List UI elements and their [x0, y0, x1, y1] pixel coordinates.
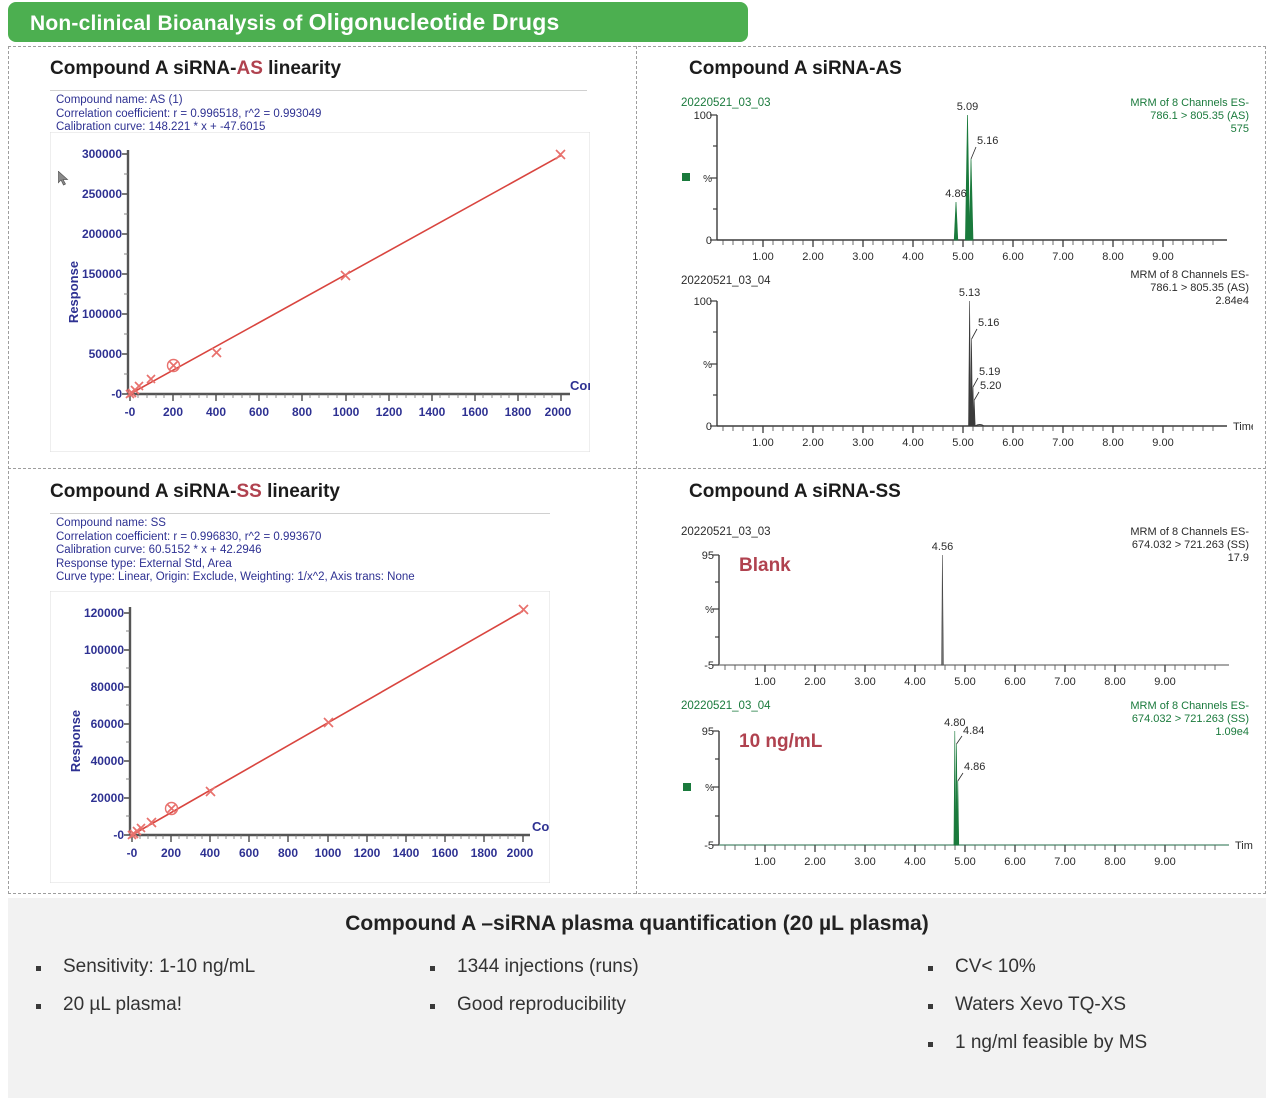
- svg-text:50000: 50000: [89, 347, 123, 361]
- svg-text:-5: -5: [704, 660, 714, 672]
- svg-text:-0: -0: [127, 846, 138, 860]
- svg-text:8.00: 8.00: [1102, 437, 1123, 449]
- svg-text:-5: -5: [704, 840, 714, 852]
- svg-text:%: %: [705, 783, 714, 794]
- svg-text:4.00: 4.00: [904, 856, 925, 868]
- as-bottom-sample-label: 20220521_03_04: [681, 275, 771, 287]
- svg-text:100: 100: [694, 110, 712, 122]
- svg-text:2.00: 2.00: [804, 676, 825, 688]
- panel-title-as-linearity: Compound A siRNA-AS linearity: [50, 58, 341, 80]
- list-item: Sensitivity: 1-10 ng/mL: [36, 956, 255, 978]
- svg-text:800: 800: [292, 405, 312, 419]
- as-top-sample-label: 20220521_03_03: [681, 97, 771, 109]
- svg-text:20000: 20000: [91, 791, 125, 805]
- svg-text:2.00: 2.00: [802, 437, 823, 449]
- svg-text:Conc: Conc: [532, 819, 550, 834]
- svg-text:MRM of 8 Channels ES-: MRM of 8 Channels ES-: [1130, 700, 1249, 712]
- svg-text:3.00: 3.00: [854, 676, 875, 688]
- report-top-rule: [50, 513, 550, 514]
- svg-text:5.00: 5.00: [954, 676, 975, 688]
- bullet-square-icon: [430, 966, 435, 971]
- svg-text:2.00: 2.00: [804, 856, 825, 868]
- svg-text:9.00: 9.00: [1152, 437, 1173, 449]
- svg-text:1.00: 1.00: [752, 251, 773, 263]
- svg-text:Conc: Conc: [570, 378, 590, 393]
- svg-text:%: %: [703, 360, 712, 371]
- svg-text:600: 600: [249, 405, 269, 419]
- bullet-square-icon: [928, 1042, 933, 1047]
- svg-text:1200: 1200: [376, 405, 403, 419]
- title-suffix: linearity: [262, 481, 340, 502]
- report-line-compound-name: Compound name: SS: [56, 517, 415, 531]
- svg-text:5.13: 5.13: [959, 287, 980, 299]
- ss-10ng-sample-label: 20220521_03_04: [681, 700, 771, 712]
- svg-text:674.032 > 721.263 (SS): 674.032 > 721.263 (SS): [1132, 539, 1249, 551]
- svg-text:300000: 300000: [82, 147, 122, 161]
- report-line-calibration-curve: Calibration curve: 60.5152 * x + 42.2946: [56, 544, 415, 558]
- ss-chromatogram-pair: 20220521_03_03 MRM of 8 Channels ES- 674…: [657, 517, 1253, 877]
- svg-text:4.86: 4.86: [945, 188, 966, 200]
- svg-text:Response: Response: [68, 710, 83, 772]
- svg-text:400: 400: [200, 846, 220, 860]
- svg-text:575: 575: [1231, 123, 1249, 135]
- bullet-square-icon: [36, 1004, 41, 1009]
- svg-text:1.09e4: 1.09e4: [1215, 726, 1249, 738]
- svg-text:2.00: 2.00: [802, 251, 823, 263]
- svg-text:6.00: 6.00: [1002, 437, 1023, 449]
- svg-text:9.00: 9.00: [1154, 676, 1175, 688]
- list-item: Waters Xevo TQ-XS: [928, 994, 1147, 1016]
- svg-text:-0: -0: [125, 405, 136, 419]
- title-suffix: linearity: [263, 58, 341, 79]
- svg-text:4.00: 4.00: [902, 437, 923, 449]
- svg-text:100000: 100000: [82, 307, 122, 321]
- bullet-square-icon: [430, 1004, 435, 1009]
- svg-text:1600: 1600: [462, 405, 489, 419]
- panel-title-as-chrom: Compound A siRNA-AS: [689, 58, 902, 80]
- panel-ss-linearity: Compound A siRNA-SS linearity Compound n…: [8, 469, 636, 894]
- svg-text:5.16: 5.16: [978, 317, 999, 329]
- bullet-square-icon: [928, 966, 933, 971]
- svg-text:200: 200: [161, 846, 181, 860]
- svg-text:MRM of 8 Channels ES-: MRM of 8 Channels ES-: [1130, 526, 1249, 538]
- svg-text:1200: 1200: [354, 846, 381, 860]
- report-line-correlation: Correlation coefficient: r = 0.996830, r…: [56, 531, 415, 545]
- svg-text:1000: 1000: [333, 405, 360, 419]
- svg-text:9.00: 9.00: [1152, 251, 1173, 263]
- svg-text:800: 800: [278, 846, 298, 860]
- mouse-cursor-icon: [58, 171, 69, 186]
- svg-text:-0: -0: [113, 828, 124, 842]
- svg-text:1000: 1000: [315, 846, 342, 860]
- svg-text:5.20: 5.20: [980, 380, 1001, 392]
- as-top-legend-square: [682, 173, 690, 181]
- list-item: 20 µL plasma!: [36, 994, 255, 1016]
- svg-text:786.1 > 805.35 (AS): 786.1 > 805.35 (AS): [1150, 282, 1249, 294]
- bullet-column-3: CV< 10% Waters Xevo TQ-XS 1 ng/ml feasib…: [928, 956, 1147, 1070]
- ss-blank-sample-label: 20220521_03_03: [681, 526, 771, 538]
- svg-text:MRM of 8 Channels ES-: MRM of 8 Channels ES-: [1130, 269, 1249, 281]
- bullet-text: CV< 10%: [955, 956, 1036, 978]
- svg-text:4.56: 4.56: [932, 541, 953, 553]
- svg-text:1.00: 1.00: [754, 676, 775, 688]
- svg-text:150000: 150000: [82, 267, 122, 281]
- bullet-column-1: Sensitivity: 1-10 ng/mL 20 µL plasma!: [36, 956, 255, 1032]
- panel-title-ss-linearity: Compound A siRNA-SS linearity: [50, 481, 340, 503]
- svg-text:1800: 1800: [471, 846, 498, 860]
- svg-text:7.00: 7.00: [1052, 251, 1073, 263]
- svg-text:200: 200: [163, 405, 183, 419]
- report-line-compound-name: Compound name: AS (1): [56, 94, 415, 108]
- svg-text:200000: 200000: [82, 227, 122, 241]
- svg-text:1.00: 1.00: [754, 856, 775, 868]
- bullet-text: Waters Xevo TQ-XS: [955, 994, 1126, 1016]
- ss-blank-annotation: Blank: [739, 555, 791, 576]
- report-top-rule: [50, 90, 587, 91]
- svg-text:4.84: 4.84: [963, 725, 984, 737]
- svg-text:5.16: 5.16: [977, 135, 998, 147]
- title-accent: SS: [236, 481, 261, 502]
- slide-title-banner: Non-clinical Bioanalysis of Oligonucleot…: [8, 2, 748, 42]
- ss-linearity-plot: -0 20000 40000 60000 80000 100000 120000: [50, 591, 550, 883]
- panel-as-linearity: Compound A siRNA-AS linearity Compound n…: [8, 46, 636, 468]
- svg-text:3.00: 3.00: [852, 251, 873, 263]
- panel-as-chromatograms: Compound A siRNA-AS 20220521_03_03 MRM o…: [637, 46, 1266, 468]
- ss-10ng-annotation: 10 ng/mL: [739, 731, 823, 752]
- as-chromatogram-pair: 20220521_03_03 MRM of 8 Channels ES- 786…: [657, 88, 1253, 458]
- list-item: 1344 injections (runs): [430, 956, 639, 978]
- bullet-text: Good reproducibility: [457, 994, 626, 1016]
- title-prefix: Compound A siRNA-: [50, 481, 236, 502]
- svg-text:5.00: 5.00: [954, 856, 975, 868]
- svg-text:6.00: 6.00: [1004, 856, 1025, 868]
- slide-title-bold: Oligonucleotide Drugs: [309, 9, 560, 35]
- svg-text:2.84e4: 2.84e4: [1215, 295, 1249, 307]
- svg-text:Response: Response: [66, 261, 81, 323]
- svg-text:9.00: 9.00: [1154, 856, 1175, 868]
- svg-text:100: 100: [694, 296, 712, 308]
- bullet-square-icon: [928, 1004, 933, 1009]
- svg-text:60000: 60000: [91, 717, 125, 731]
- svg-text:0: 0: [706, 235, 712, 247]
- svg-text:Time: Time: [1235, 840, 1253, 852]
- svg-text:1800: 1800: [505, 405, 532, 419]
- svg-text:17.9: 17.9: [1228, 552, 1249, 564]
- svg-text:674.032 > 721.263 (SS): 674.032 > 721.263 (SS): [1132, 713, 1249, 725]
- as-linearity-plot: -0 50000 100000 150000 200000 250000 300…: [50, 132, 590, 452]
- panel-ss-chromatograms: Compound A siRNA-SS 20220521_03_03 MRM o…: [637, 469, 1266, 894]
- svg-text:7.00: 7.00: [1054, 676, 1075, 688]
- svg-text:80000: 80000: [91, 680, 125, 694]
- bullet-text: 20 µL plasma!: [63, 994, 182, 1016]
- svg-text:95: 95: [702, 726, 714, 738]
- bullet-text: Sensitivity: 1-10 ng/mL: [63, 956, 255, 978]
- svg-text:0: 0: [706, 421, 712, 433]
- report-line-response-type: Response type: External Std, Area: [56, 558, 415, 572]
- svg-text:400: 400: [206, 405, 226, 419]
- title-prefix: Compound A siRNA-: [50, 58, 236, 79]
- svg-text:40000: 40000: [91, 754, 125, 768]
- ss-report-text: Compound name: SS Correlation coefficien…: [56, 517, 415, 585]
- bullet-text: 1 ng/ml feasible by MS: [955, 1032, 1147, 1054]
- svg-text:8.00: 8.00: [1104, 856, 1125, 868]
- svg-text:100000: 100000: [84, 643, 124, 657]
- svg-text:5.00: 5.00: [952, 251, 973, 263]
- svg-text:4.86: 4.86: [964, 761, 985, 773]
- svg-text:1400: 1400: [419, 405, 446, 419]
- ss-10ng-legend-square: [683, 783, 691, 791]
- svg-text:250000: 250000: [82, 187, 122, 201]
- svg-text:5.19: 5.19: [979, 366, 1000, 378]
- bullet-square-icon: [36, 966, 41, 971]
- summary-title: Compound A –siRNA plasma quantification …: [8, 912, 1266, 936]
- summary-footer: Compound A –siRNA plasma quantification …: [8, 898, 1266, 1098]
- report-line-curve-type: Curve type: Linear, Origin: Exclude, Wei…: [56, 571, 415, 585]
- svg-text:-0: -0: [111, 387, 122, 401]
- svg-text:8.00: 8.00: [1104, 676, 1125, 688]
- list-item: 1 ng/ml feasible by MS: [928, 1032, 1147, 1054]
- slide-title-text: Non-clinical Bioanalysis of Oligonucleot…: [8, 9, 560, 36]
- title-prefix: Compound A siRNA-SS: [689, 481, 901, 502]
- svg-text:5.09: 5.09: [957, 101, 978, 113]
- svg-text:6.00: 6.00: [1002, 251, 1023, 263]
- svg-text:%: %: [703, 174, 712, 185]
- svg-text:7.00: 7.00: [1052, 437, 1073, 449]
- title-accent: AS: [236, 58, 262, 79]
- svg-text:2000: 2000: [545, 405, 572, 419]
- svg-text:3.00: 3.00: [854, 856, 875, 868]
- svg-text:6.00: 6.00: [1004, 676, 1025, 688]
- bullet-column-2: 1344 injections (runs) Good reproducibil…: [430, 956, 639, 1032]
- svg-text:95: 95: [702, 550, 714, 562]
- svg-text:1400: 1400: [393, 846, 420, 860]
- svg-text:%: %: [705, 605, 714, 616]
- panel-title-ss-chrom: Compound A siRNA-SS: [689, 481, 901, 503]
- svg-text:786.1 > 805.35 (AS): 786.1 > 805.35 (AS): [1150, 110, 1249, 122]
- svg-text:2000: 2000: [507, 846, 534, 860]
- svg-text:4.00: 4.00: [902, 251, 923, 263]
- svg-text:4.00: 4.00: [904, 676, 925, 688]
- report-line-correlation: Correlation coefficient: r = 0.996518, r…: [56, 108, 415, 122]
- slide-title-normal: Non-clinical Bioanalysis of: [30, 12, 309, 35]
- bullet-text: 1344 injections (runs): [457, 956, 639, 978]
- svg-text:1600: 1600: [432, 846, 459, 860]
- svg-text:600: 600: [239, 846, 259, 860]
- svg-text:8.00: 8.00: [1102, 251, 1123, 263]
- list-item: CV< 10%: [928, 956, 1147, 978]
- title-prefix: Compound A siRNA-AS: [689, 58, 902, 79]
- svg-text:3.00: 3.00: [852, 437, 873, 449]
- svg-text:120000: 120000: [84, 606, 124, 620]
- svg-text:Time: Time: [1233, 421, 1253, 433]
- svg-text:1.00: 1.00: [752, 437, 773, 449]
- svg-text:7.00: 7.00: [1054, 856, 1075, 868]
- svg-text:5.00: 5.00: [952, 437, 973, 449]
- list-item: Good reproducibility: [430, 994, 639, 1016]
- svg-text:MRM of 8 Channels ES-: MRM of 8 Channels ES-: [1130, 97, 1249, 109]
